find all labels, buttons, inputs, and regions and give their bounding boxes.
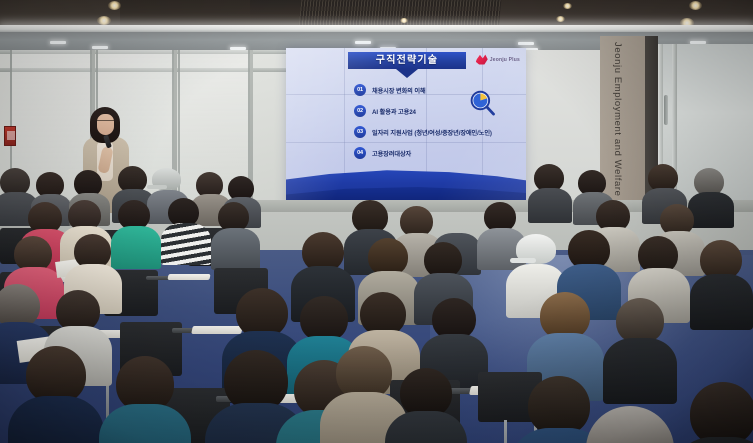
torso: [8, 396, 104, 443]
cap-brim: [147, 185, 167, 189]
wall-notice-sign: [4, 126, 16, 146]
ceiling-spotlight: [689, 1, 702, 10]
torso: [528, 188, 572, 223]
ceiling-spotlight: [556, 16, 565, 22]
slide-logo-text: Jeonju Plus: [490, 57, 520, 63]
soffit-led: [355, 41, 371, 44]
glass-etched-text-2: [32, 94, 43, 104]
ceiling-spotlight: [563, 3, 572, 9]
torso: [690, 274, 753, 330]
audience: [0, 150, 753, 443]
tablet-arm-desk: [167, 274, 210, 280]
ceiling-light-strip: [0, 25, 753, 32]
ceiling-spotlight: [97, 16, 111, 25]
magnifier-pie-chart-icon: [469, 90, 497, 118]
glass-etched-text: [28, 78, 48, 92]
head: [528, 376, 590, 436]
list-item-number: 01: [354, 84, 366, 96]
slide-banner-notch: [396, 69, 418, 78]
list-item-number: 02: [354, 105, 366, 117]
list-item-label: 일자리 지원사업 (청년/여성/중장년/장애인/노인): [372, 128, 492, 137]
slide-banner-title: 구직전략기술: [348, 52, 466, 69]
ceiling-spotlight: [108, 1, 121, 10]
presenter-glasses: [97, 120, 114, 124]
list-item-label: AI 활용과 고용24: [372, 107, 416, 116]
torso: [111, 226, 161, 269]
soffit-led: [50, 41, 66, 44]
door-handle[interactable]: [664, 95, 668, 125]
ceiling-spotlight: [400, 18, 408, 23]
list-item-number: 03: [354, 126, 366, 138]
list-item-label: 채용시장 변화의 이해: [372, 86, 426, 95]
head: [586, 406, 674, 443]
presenter-face: [97, 114, 114, 135]
head: [690, 382, 753, 443]
soffit-led: [92, 46, 108, 49]
flame-logo-icon: [476, 54, 488, 65]
torso: [161, 223, 211, 265]
torso: [672, 437, 753, 443]
cap-brim: [510, 258, 536, 263]
tablet-arm-desk: [191, 326, 243, 334]
torso: [603, 338, 677, 404]
list-item: 03 일자리 지원사업 (청년/여성/중장년/장애인/노인): [354, 126, 519, 138]
soffit-led: [518, 42, 534, 45]
ceiling-grille: [299, 0, 502, 27]
slide-banner: 구직전략기술: [348, 52, 466, 69]
seminar-room-photo: Jeonju Employment and Welfare Plus Cente…: [0, 0, 753, 443]
torso: [688, 192, 734, 228]
chair-leg: [504, 420, 507, 443]
slide-logo: Jeonju Plus: [476, 53, 520, 66]
torso: [211, 228, 260, 270]
